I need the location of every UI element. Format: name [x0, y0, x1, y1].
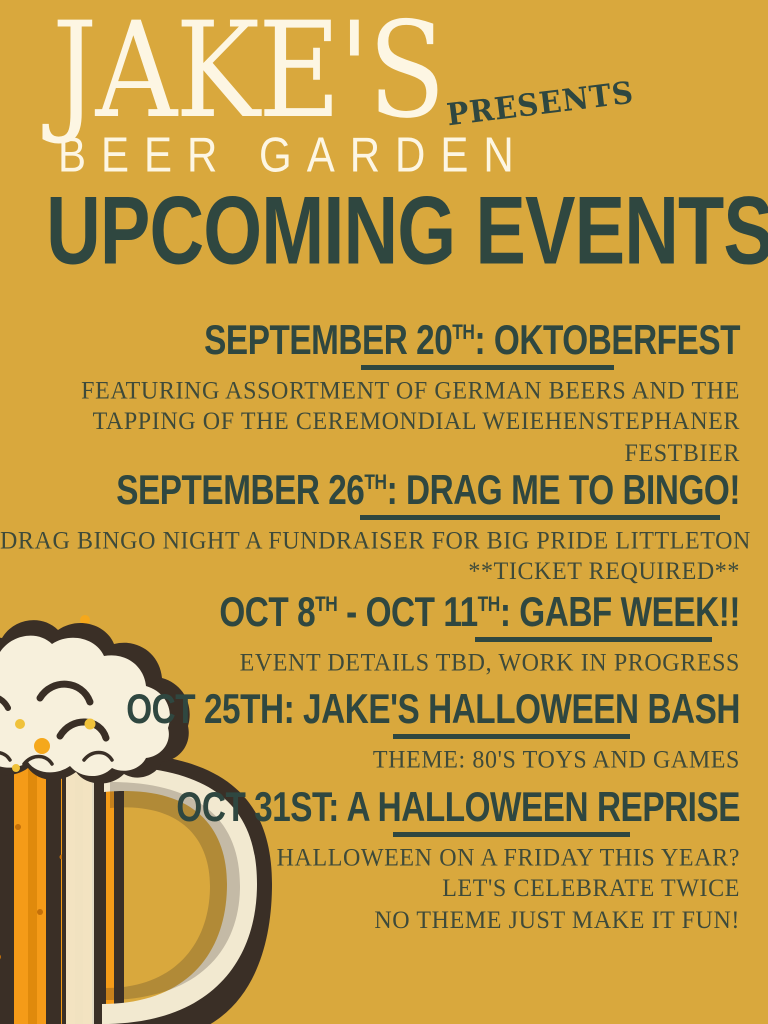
event-heading: OCT 8TH - OCT 11TH: GABF WEEK!! [74, 590, 740, 635]
event-item: SEPTEMBER 20TH: OKTOBERFEST FEATURING AS… [0, 318, 740, 464]
event-separator: : [474, 317, 493, 363]
event-heading: OCT 31ST: A HALLOWEEN REPRISE [74, 785, 740, 830]
event-item: OCT 8TH - OCT 11TH: GABF WEEK!! EVENT DE… [0, 590, 740, 677]
presents-label: PRESENTS [445, 74, 636, 132]
event-description-line: LET'S CELEBRATE TWICE [0, 874, 740, 905]
event-description-line: EVENT DETAILS TBD, WORK IN PROGRESS [0, 648, 740, 679]
event-separator: : [284, 686, 303, 732]
event-date-suffix2: TH [478, 593, 500, 617]
event-name: DRAG ME TO BINGO! [406, 467, 740, 513]
event-date-part2: - OCT 11 [337, 589, 477, 635]
event-heading: OCT 25TH: JAKE'S HALLOWEEN BASH [74, 687, 740, 732]
event-heading: SEPTEMBER 26TH: DRAG ME TO BINGO! [74, 468, 740, 513]
event-date: OCT 8 [219, 589, 315, 635]
event-date-suffix: TH [364, 471, 386, 495]
event-date-suffix: TH [452, 321, 474, 345]
event-description-line: FEATURING ASSORTMENT OF GERMAN BEERS AND… [0, 376, 740, 407]
event-description: DRAG BINGO NIGHT A FUNDRAISER FOR BIG PR… [0, 526, 740, 588]
event-description-line: HALLOWEEN ON A FRIDAY THIS YEAR? [0, 843, 740, 874]
event-item: OCT 25TH: JAKE'S HALLOWEEN BASH THEME: 8… [0, 687, 740, 774]
event-item: SEPTEMBER 26TH: DRAG ME TO BINGO! DRAG B… [0, 468, 740, 584]
event-description-line: TAPPING OF THE CEREMONDIAL WEIEHENSTEPHA… [0, 407, 740, 438]
brand-subtitle: BEER GARDEN [58, 130, 529, 180]
event-rule [393, 734, 630, 739]
brand-name: JAKE'S [52, 4, 444, 136]
event-rule [393, 832, 630, 837]
event-poster: JAKE'S BEER GARDEN PRESENTS UPCOMING EVE… [0, 0, 768, 1024]
event-description-line: NO THEME JUST MAKE IT FUN! [0, 905, 740, 936]
event-description: HALLOWEEN ON A FRIDAY THIS YEAR? LET'S C… [0, 843, 740, 936]
event-rule [360, 515, 720, 520]
event-description-line: DRAG BINGO NIGHT A FUNDRAISER FOR BIG PR… [0, 526, 740, 557]
event-rule [475, 637, 712, 642]
event-heading: SEPTEMBER 20TH: OKTOBERFEST [74, 318, 740, 363]
event-description: FEATURING ASSORTMENT OF GERMAN BEERS AND… [0, 376, 740, 469]
event-description-line: THEME: 80'S TOYS AND GAMES [0, 745, 740, 776]
event-date-suffix: TH [315, 593, 337, 617]
page-title: UPCOMING EVENTS [46, 183, 722, 279]
event-name: OKTOBERFEST [494, 317, 740, 363]
event-separator: : [500, 589, 519, 635]
event-description-line: FESTBIER [0, 438, 740, 469]
event-date: OCT 25TH [126, 686, 283, 732]
event-name: A HALLOWEEN REPRISE [346, 784, 740, 830]
event-separator: : [387, 467, 406, 513]
event-separator: : [328, 784, 346, 830]
event-date: SEPTEMBER 26 [116, 467, 364, 513]
event-item: OCT 31ST: A HALLOWEEN REPRISE HALLOWEEN … [0, 785, 740, 931]
event-description: EVENT DETAILS TBD, WORK IN PROGRESS [0, 648, 740, 679]
event-description: THEME: 80'S TOYS AND GAMES [0, 745, 740, 776]
event-description-line: **TICKET REQUIRED** [0, 557, 740, 588]
event-name: JAKE'S HALLOWEEN BASH [303, 686, 740, 732]
event-list: SEPTEMBER 20TH: OKTOBERFEST FEATURING AS… [0, 318, 768, 936]
event-date: SEPTEMBER 20 [204, 317, 452, 363]
event-date: OCT 31ST [176, 784, 328, 830]
event-name: GABF WEEK!! [519, 589, 740, 635]
event-rule [361, 365, 614, 370]
